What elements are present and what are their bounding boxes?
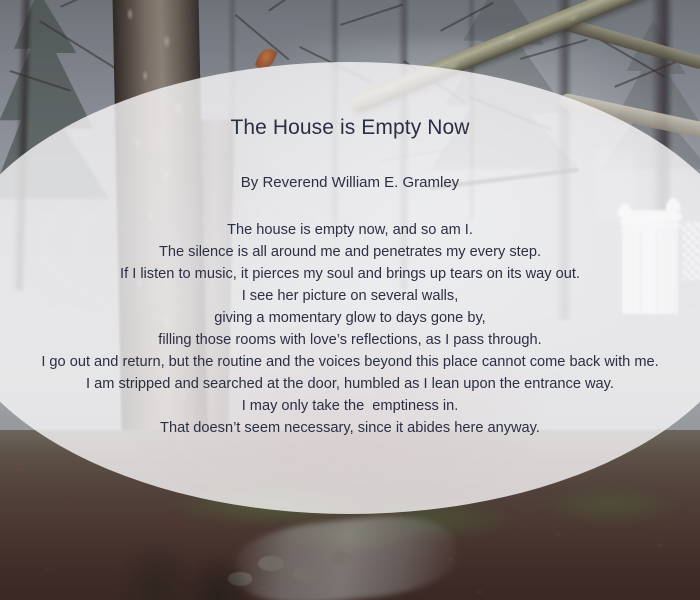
poem-line: I go out and return, but the routine and… [20,351,680,373]
poem-poster: The House is Empty Now By Reverend Willi… [0,0,700,600]
poem-author: By Reverend William E. Gramley [0,174,700,191]
poem-line: If I listen to music, it pierces my soul… [20,263,680,285]
poem-text-layer: The House is Empty Now By Reverend Willi… [0,0,700,600]
poem-line: giving a momentary glow to days gone by, [20,307,680,329]
poem-line: The house is empty now, and so am I. [20,219,680,241]
poem-line: I may only take the emptiness in. [20,395,680,417]
poem-title: The House is Empty Now [0,116,700,140]
poem-line: I am stripped and searched at the door, … [20,373,680,395]
poem-line: The silence is all around me and penetra… [20,241,680,263]
poem-line: I see her picture on several walls, [20,285,680,307]
poem-body: The house is empty now, and so am I. The… [20,219,680,439]
poem-line: filling those rooms with love’s reflecti… [20,329,680,351]
poem-line: That doesn’t seem necessary, since it ab… [20,417,680,439]
